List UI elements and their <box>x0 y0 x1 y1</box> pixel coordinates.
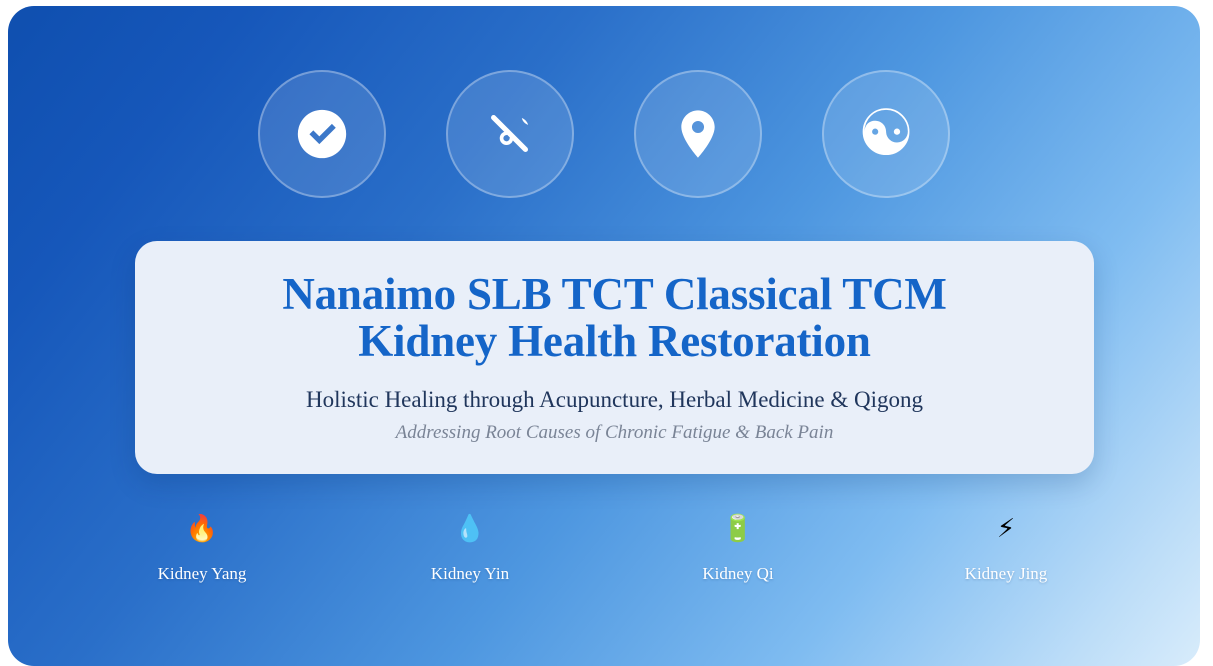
pillar-kidney-yang[interactable]: 🔥 Kidney Yang <box>112 514 292 584</box>
pillar-kidney-qi[interactable]: 🔋 Kidney Qi <box>648 514 828 584</box>
pillar-label-kidney-yin: Kidney Yin <box>431 564 509 584</box>
badge-row: ☯ <box>8 70 1200 198</box>
badge-verified[interactable] <box>258 70 386 198</box>
check-circle-icon <box>293 105 351 163</box>
hero-panel: ☯ Nanaimo SLB TCT Classical TCM Kidney H… <box>8 6 1200 666</box>
pillar-kidney-jing[interactable]: ⚡ Kidney Jing <box>916 514 1096 584</box>
pillar-kidney-yin[interactable]: 💧 Kidney Yin <box>380 514 560 584</box>
yin-yang-icon: ☯ <box>857 102 914 166</box>
lightning-emoji-icon: ⚡ <box>997 514 1015 544</box>
pillar-label-kidney-qi: Kidney Qi <box>702 564 773 584</box>
page-title: Nanaimo SLB TCT Classical TCM Kidney Hea… <box>220 271 1010 366</box>
badge-acupuncture[interactable] <box>446 70 574 198</box>
location-pin-icon <box>669 105 727 163</box>
pillar-label-kidney-yang: Kidney Yang <box>158 564 247 584</box>
pillar-row: 🔥 Kidney Yang 💧 Kidney Yin 🔋 Kidney Qi ⚡… <box>68 514 1140 584</box>
pillar-label-kidney-jing: Kidney Jing <box>965 564 1048 584</box>
droplet-emoji-icon: 💧 <box>454 514 486 544</box>
fire-emoji-icon: 🔥 <box>186 514 218 544</box>
badge-location[interactable] <box>634 70 762 198</box>
battery-emoji-icon: 🔋 <box>722 514 754 544</box>
badge-yin-yang[interactable]: ☯ <box>822 70 950 198</box>
page-subtitle: Holistic Healing through Acupuncture, He… <box>306 387 923 413</box>
info-card: Nanaimo SLB TCT Classical TCM Kidney Hea… <box>135 241 1094 474</box>
acupuncture-needle-icon <box>481 105 539 163</box>
page-tagline: Addressing Root Causes of Chronic Fatigu… <box>396 422 834 444</box>
